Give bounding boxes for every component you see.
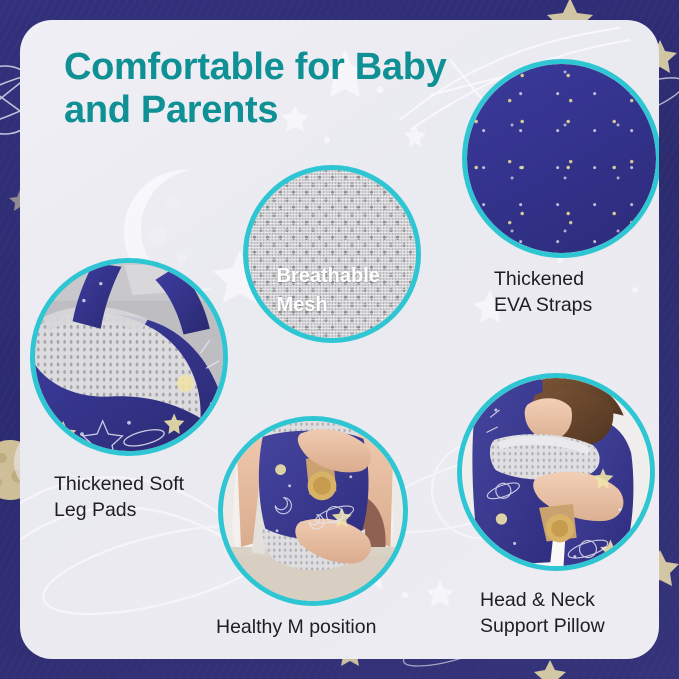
leg-pads-label-line-2: Leg Pads	[54, 498, 184, 524]
feature-circle-leg-pads[interactable]	[30, 258, 228, 456]
head-neck-label-line-1: Head & Neck	[480, 588, 605, 614]
mesh-overlay-line-2: Mesh	[277, 291, 380, 320]
leg-pad-illustration	[35, 263, 223, 451]
eva-straps-photo	[467, 64, 656, 253]
eva-straps-label-line-2: EVA Straps	[494, 293, 592, 319]
feature-circle-head-neck-pillow[interactable]	[457, 373, 655, 571]
m-position-label-line-1: Healthy M position	[216, 615, 376, 641]
label-m-position: Healthy M position	[216, 615, 376, 641]
feature-circle-breathable-mesh[interactable]: Breathable Mesh	[243, 165, 421, 343]
leg-pads-photo	[35, 263, 223, 451]
breathable-mesh-overlay-text: Breathable Mesh	[277, 262, 380, 320]
infographic-root: Comfortable for Baby and Parents	[0, 0, 679, 679]
leg-pads-label-line-1: Thickened Soft	[54, 472, 184, 498]
m-position-illustration	[223, 421, 403, 601]
label-eva-straps: Thickened EVA Straps	[494, 267, 592, 319]
label-head-neck-pillow: Head & Neck Support Pillow	[480, 588, 605, 640]
label-leg-pads: Thickened Soft Leg Pads	[54, 472, 184, 524]
mesh-overlay-line-1: Breathable	[277, 262, 380, 291]
head-neck-label-line-2: Support Pillow	[480, 614, 605, 640]
feature-circle-eva-straps[interactable]	[462, 59, 659, 258]
breathable-mesh-photo: Breathable Mesh	[248, 170, 416, 338]
m-position-photo	[223, 421, 403, 601]
feature-circle-m-position[interactable]	[218, 416, 408, 606]
eva-straps-label-line-1: Thickened	[494, 267, 592, 293]
head-neck-pillow-illustration	[462, 378, 650, 566]
head-neck-pillow-photo	[462, 378, 650, 566]
content-card: Comfortable for Baby and Parents	[20, 20, 659, 659]
